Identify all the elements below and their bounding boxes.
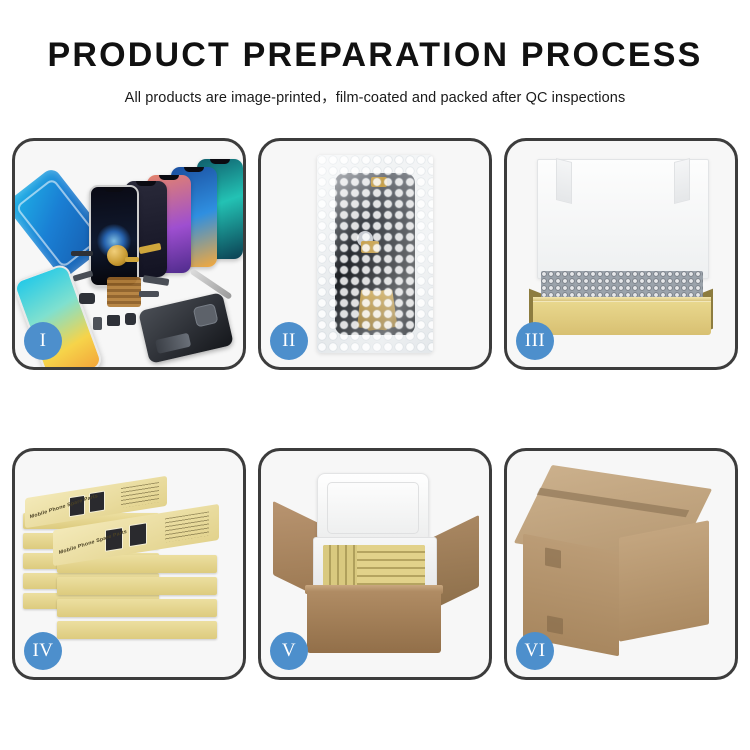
process-panel-5[interactable]: V [258,448,492,680]
plastic-sheen [317,155,433,353]
phone-display-1 [89,185,139,287]
page-subtitle: All products are image-printed，film-coat… [0,86,750,107]
kraft-box-stacked [57,599,217,617]
page-header: PRODUCT PREPARATION PROCESS All products… [0,0,750,107]
notch-icon [184,167,204,172]
carton-tape-patch [545,547,561,568]
flex-cable-part [139,291,159,297]
panel-4-step-badge: IV [24,632,62,670]
gold-connector-part [125,257,139,262]
box-print-text-lines [165,511,209,542]
lid-flap-right [674,158,690,204]
process-panel-grid: I II [12,138,738,680]
panel-3-step-badge: III [516,322,554,360]
kraft-boxes-inside [323,545,425,587]
lid-flap-left [556,158,572,204]
notch-icon [159,175,179,180]
chip-part [93,317,102,330]
panel-5-step-badge: V [270,632,308,670]
bubble-wrap-bag [317,155,433,353]
box-print-text-lines [121,482,159,508]
chip-part [107,315,120,326]
phone-back-housing [138,292,234,364]
notch-icon [136,181,156,186]
white-box-lid [537,159,709,279]
copper-coil-part [107,245,128,266]
process-panel-1[interactable]: I [12,138,246,370]
screw-plate-part [107,277,141,307]
kraft-box-front [533,301,711,335]
kraft-box-stacked [57,621,217,639]
notch-icon [104,187,124,192]
foam-box-lid [317,473,429,543]
panel-2-step-badge: II [270,322,308,360]
carton-tape-patch [547,615,563,634]
chip-part [71,251,93,256]
kraft-boxes-horizontal [357,545,425,587]
carton-side-face [619,520,709,641]
kraft-box-stacked [57,577,217,595]
chip-part [125,313,136,325]
kraft-boxes-vertical [323,545,357,587]
panel-1-step-badge: I [24,322,62,360]
phone-display-fan [83,157,243,282]
process-panel-6[interactable]: VI [504,448,738,680]
box-print-image [129,522,147,547]
page-title: PRODUCT PREPARATION PROCESS [0,38,750,74]
notch-icon [210,159,230,164]
chip-part [79,293,95,304]
process-panel-3[interactable]: III [504,138,738,370]
carton-front [307,591,441,653]
panel-6-step-badge: VI [516,632,554,670]
process-panel-4[interactable]: Mobile Phone Spare Parts Mobile Phone Sp… [12,448,246,680]
process-panel-2[interactable]: II [258,138,492,370]
